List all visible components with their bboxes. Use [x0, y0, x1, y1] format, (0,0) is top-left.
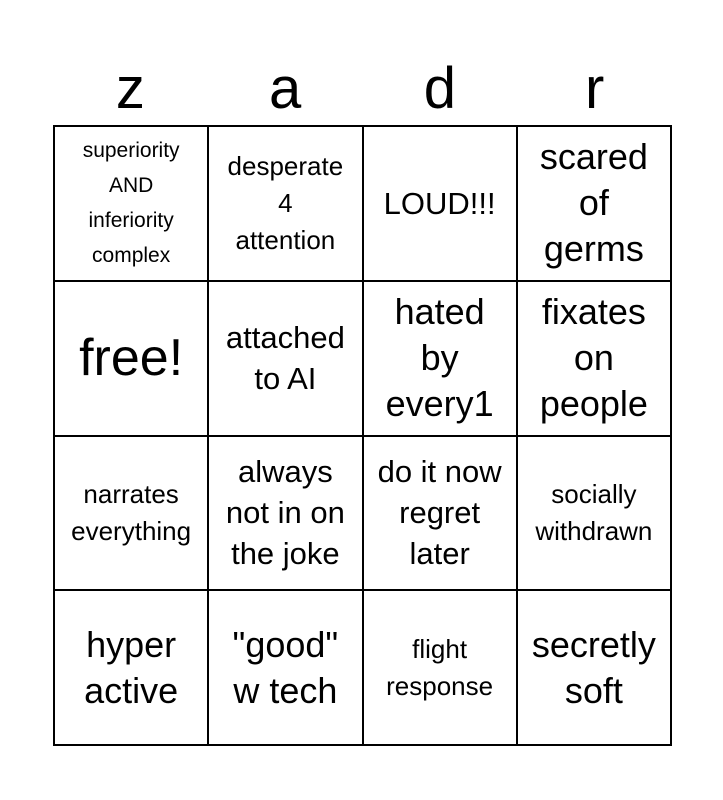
- bingo-cell[interactable]: attached to AI: [209, 282, 363, 437]
- bingo-cell[interactable]: secretly soft: [518, 591, 672, 746]
- bingo-cell[interactable]: always not in on the joke: [209, 437, 363, 592]
- bingo-cell-label: socially withdrawn: [522, 476, 666, 550]
- bingo-header-letter-0: z: [53, 58, 208, 120]
- bingo-cell-label: hyper active: [59, 622, 203, 714]
- bingo-cell[interactable]: hated by every1: [364, 282, 518, 437]
- bingo-cell-label: desperate 4 attention: [213, 148, 357, 259]
- bingo-cell-label: secretly soft: [522, 622, 666, 714]
- bingo-cell[interactable]: do it now regret later: [364, 437, 518, 592]
- bingo-grid: superiority AND inferiority complexdespe…: [53, 125, 672, 746]
- bingo-cell-label: attached to AI: [213, 317, 357, 399]
- bingo-header-letter-2: d: [363, 58, 518, 120]
- bingo-cell-label: LOUD!!!: [368, 183, 512, 224]
- bingo-cell-free[interactable]: free!: [55, 282, 209, 437]
- bingo-cell-label: fixates on people: [522, 289, 666, 427]
- bingo-cell-label: scared of germs: [522, 134, 666, 272]
- bingo-cell[interactable]: desperate 4 attention: [209, 127, 363, 282]
- bingo-card: zadr superiority AND inferiority complex…: [0, 0, 723, 800]
- bingo-cell[interactable]: flight response: [364, 591, 518, 746]
- bingo-cell[interactable]: narrates everything: [55, 437, 209, 592]
- bingo-cell-label: free!: [59, 329, 203, 387]
- bingo-cell-label: always not in on the joke: [213, 451, 357, 574]
- bingo-header-letter-3: r: [517, 58, 672, 120]
- bingo-cell[interactable]: socially withdrawn: [518, 437, 672, 592]
- bingo-cell[interactable]: superiority AND inferiority complex: [55, 127, 209, 282]
- bingo-cell-label: flight response: [368, 631, 512, 705]
- bingo-cell[interactable]: LOUD!!!: [364, 127, 518, 282]
- bingo-header: zadr: [53, 48, 672, 120]
- bingo-cell-label: hated by every1: [368, 289, 512, 427]
- bingo-cell[interactable]: scared of germs: [518, 127, 672, 282]
- bingo-cell[interactable]: fixates on people: [518, 282, 672, 437]
- bingo-cell-label: do it now regret later: [368, 451, 512, 574]
- bingo-header-letter-1: a: [208, 58, 363, 120]
- bingo-cell-label: narrates everything: [59, 476, 203, 550]
- bingo-cell-label: superiority AND inferiority complex: [59, 133, 203, 273]
- bingo-cell[interactable]: hyper active: [55, 591, 209, 746]
- bingo-cell[interactable]: "good" w tech: [209, 591, 363, 746]
- bingo-cell-label: "good" w tech: [213, 622, 357, 714]
